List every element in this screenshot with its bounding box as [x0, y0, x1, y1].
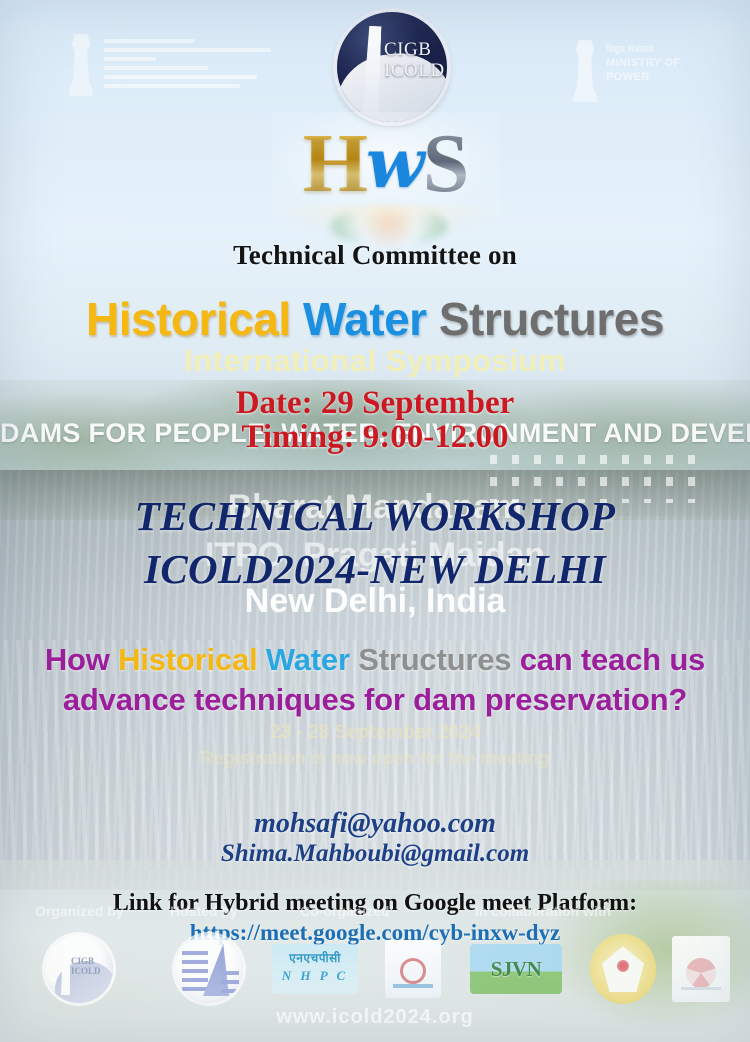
sponsor-cigb-icold-logo: CIGB ICOLD: [45, 935, 113, 1003]
credit-co-organized: Co-organized: [300, 903, 389, 919]
ntpc-ring-icon: [686, 958, 716, 988]
sponsor-incold-logo: [175, 935, 243, 1003]
ashoka-pillar-icon: [68, 34, 94, 96]
hws-letter-h: H: [303, 117, 368, 210]
poster-root: International Symposium DAMS FOR PEOPLE,…: [0, 0, 750, 1042]
title-word-structures: Structures: [439, 293, 664, 345]
question-word-historical: Historical: [118, 642, 257, 677]
sponsor-logo-row: CIGB ICOLD एनएचपीसी N H P C SJVN: [0, 930, 750, 1008]
sponsor-sjvn-logo: SJVN: [470, 944, 562, 994]
event-date: Date: 29 September: [0, 385, 750, 422]
ministry-of-power-text: विद्युत मंत्रालय MINISTRY OF POWER: [606, 40, 702, 84]
icold-logo-text: CIGB ICOLD: [384, 40, 444, 81]
incold-stripes-left: [182, 951, 208, 991]
event-time: Timing: 9:00-12.00: [0, 419, 750, 456]
nhpc-hindi-text: एनएचपीसी: [272, 949, 358, 966]
icold-pillar-small: [61, 945, 70, 995]
credit-hosted-by: Hosted by: [170, 903, 238, 919]
icold-logo-line-icold: ICOLD: [384, 61, 444, 82]
contact-email-2[interactable]: Shima.Mahboubi@gmail.com: [0, 840, 750, 868]
ashoka-pillar-icon-right: [572, 40, 598, 102]
ministry-of-power-emblem: विद्युत मंत्रालय MINISTRY OF POWER: [572, 40, 702, 110]
sponsor-ntpc-logo: [672, 936, 730, 1002]
wapcos-ring-icon: [400, 958, 426, 984]
workshop-question: How Historical Water Structures can teac…: [0, 640, 750, 719]
ministry-line-2: POWER: [606, 70, 702, 84]
nhpc-english-text: N H P C: [272, 968, 358, 984]
question-space-1: [257, 642, 265, 677]
contact-email-1[interactable]: mohsafi@yahoo.com: [0, 808, 750, 840]
ministry-hindi-line: विद्युत मंत्रालय: [606, 44, 702, 56]
title-word-historical: Historical: [86, 293, 291, 345]
hws-letter-s: S: [423, 117, 470, 210]
sponsor-icold-label: CIGB ICOLD: [71, 957, 113, 977]
technical-committee-prefix: Technical Committee on: [0, 240, 750, 271]
question-word-structures: Structures: [358, 642, 511, 677]
credit-in-collaboration-with: In collaboration with: [475, 903, 611, 919]
ntpc-bar-icon: [681, 987, 721, 990]
question-seg-how: How: [45, 642, 118, 677]
workshop-title-line-2: ICOLD2024-NEW DELHI: [0, 545, 750, 593]
cigb-icold-logo: CIGB ICOLD: [337, 12, 447, 122]
question-space-2: [350, 642, 358, 677]
wapcos-bar-icon: [393, 984, 433, 988]
sponsor-nhpc-logo: एनएचपीसी N H P C: [272, 944, 358, 994]
government-of-india-emblem: [68, 34, 278, 112]
icold-logo-line-cigb: CIGB: [384, 40, 444, 61]
page-title: Historical Water Structures: [0, 292, 750, 346]
hws-logo: HwS: [272, 112, 500, 216]
hws-letter-w: w: [366, 124, 425, 204]
sponsor-wapcos-logo: [385, 940, 441, 998]
emblem-text-lines: [104, 34, 278, 88]
sponsor-thdc-logo: [590, 934, 656, 1004]
incold-stripes-right: [221, 971, 239, 993]
ministry-line-1: MINISTRY OF: [606, 56, 702, 70]
hws-logo-reflection: [272, 206, 500, 240]
sjvn-label: SJVN: [470, 957, 562, 982]
workshop-title-line-1: TECHNICAL WORKSHOP: [0, 492, 750, 540]
title-word-water: Water: [303, 293, 427, 345]
question-word-water: Water: [266, 642, 350, 677]
thdc-center-dot-icon: [617, 960, 629, 972]
credit-organized-by: Organized by: [35, 903, 124, 919]
